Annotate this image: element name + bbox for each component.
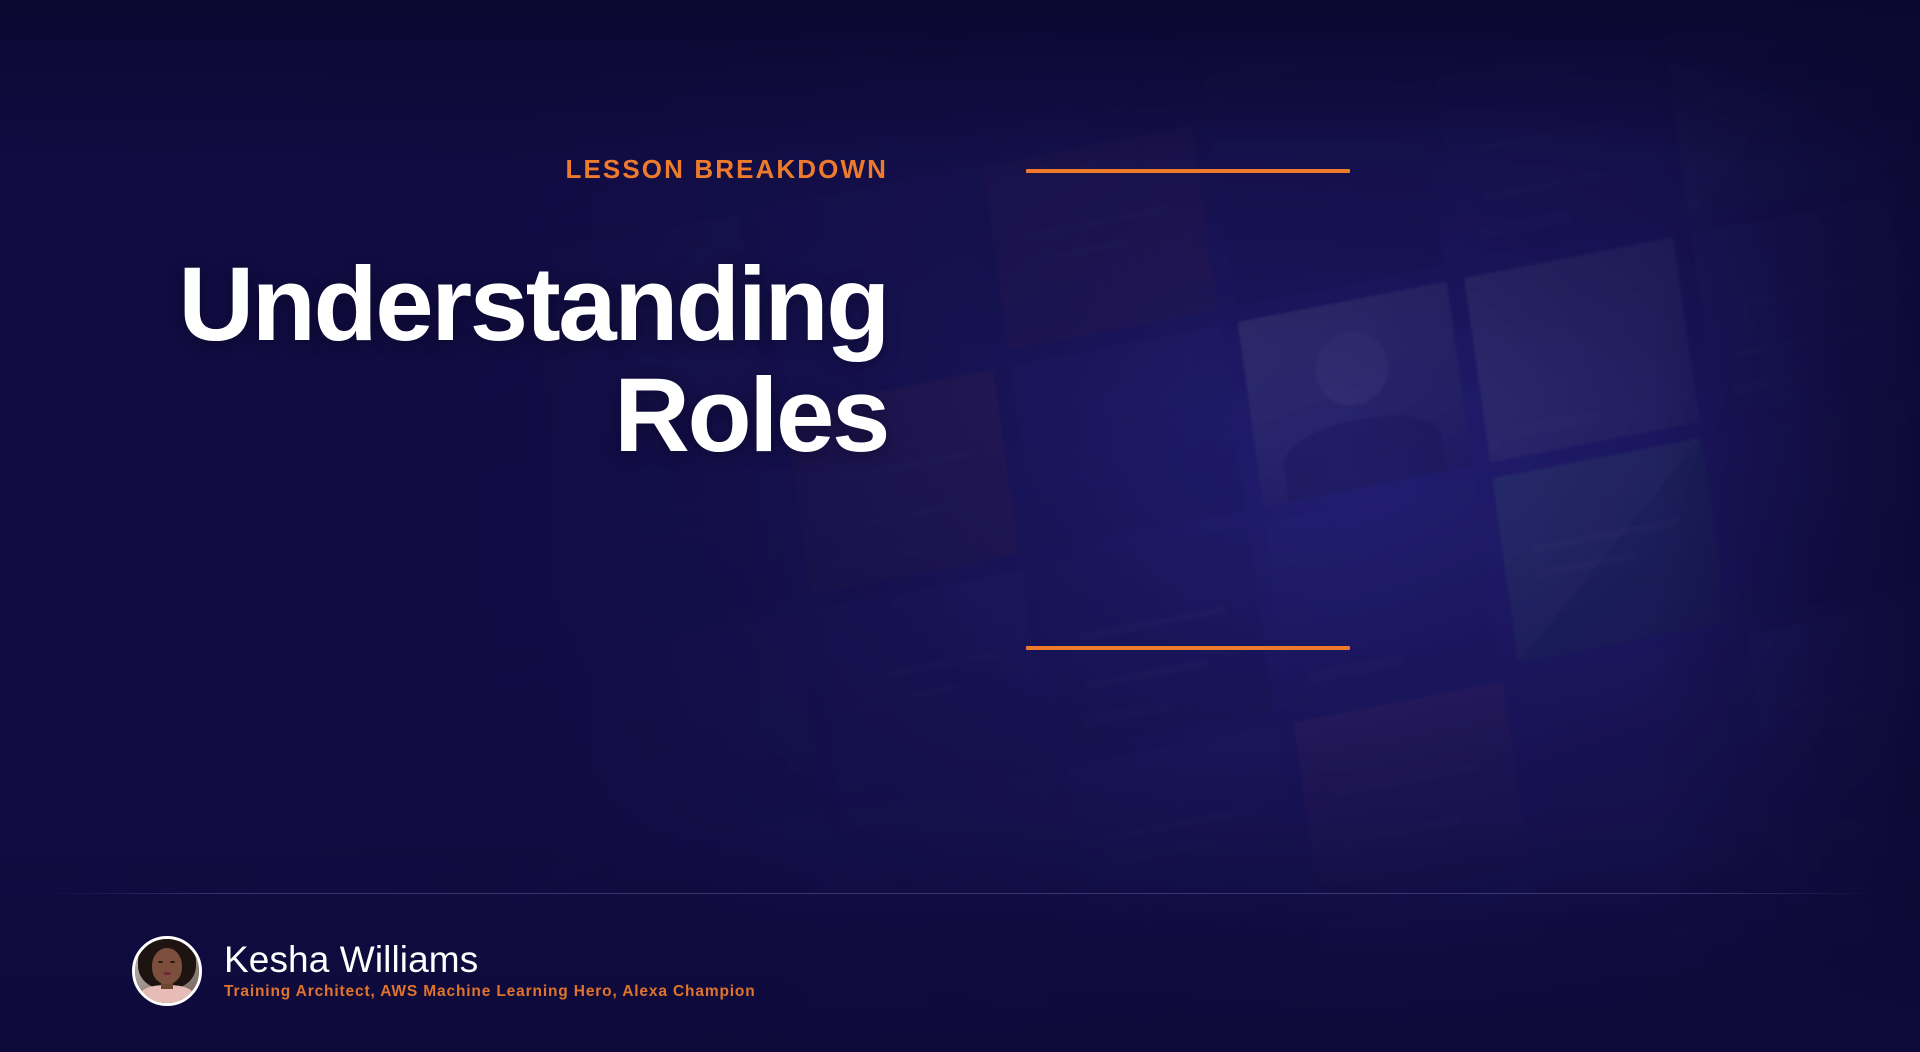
eyebrow-label: LESSON BREAKDOWN (0, 156, 888, 182)
speaker-text-group: Kesha Williams Training Architect, AWS M… (224, 940, 756, 1001)
slide-content: LESSON BREAKDOWN Understanding Roles Kes… (0, 0, 1920, 1052)
page-title-line-2: Roles (0, 360, 888, 471)
avatar (132, 936, 202, 1006)
page-title-line-1: Understanding (0, 249, 888, 360)
slide-canvas: LESSON BREAKDOWN Understanding Roles Kes… (0, 0, 1920, 1052)
speaker-name: Kesha Williams (224, 940, 756, 981)
avatar-face (152, 948, 181, 984)
avatar-eye-right (170, 961, 174, 964)
avatar-eye-left (158, 961, 162, 964)
orange-rule-top (1026, 169, 1350, 173)
page-title: Understanding Roles (0, 249, 888, 472)
footer-divider (42, 893, 1878, 894)
speaker-footer: Kesha Williams Training Architect, AWS M… (132, 936, 756, 1006)
speaker-role: Training Architect, AWS Machine Learning… (224, 983, 756, 1002)
orange-rule-bottom (1026, 646, 1350, 650)
